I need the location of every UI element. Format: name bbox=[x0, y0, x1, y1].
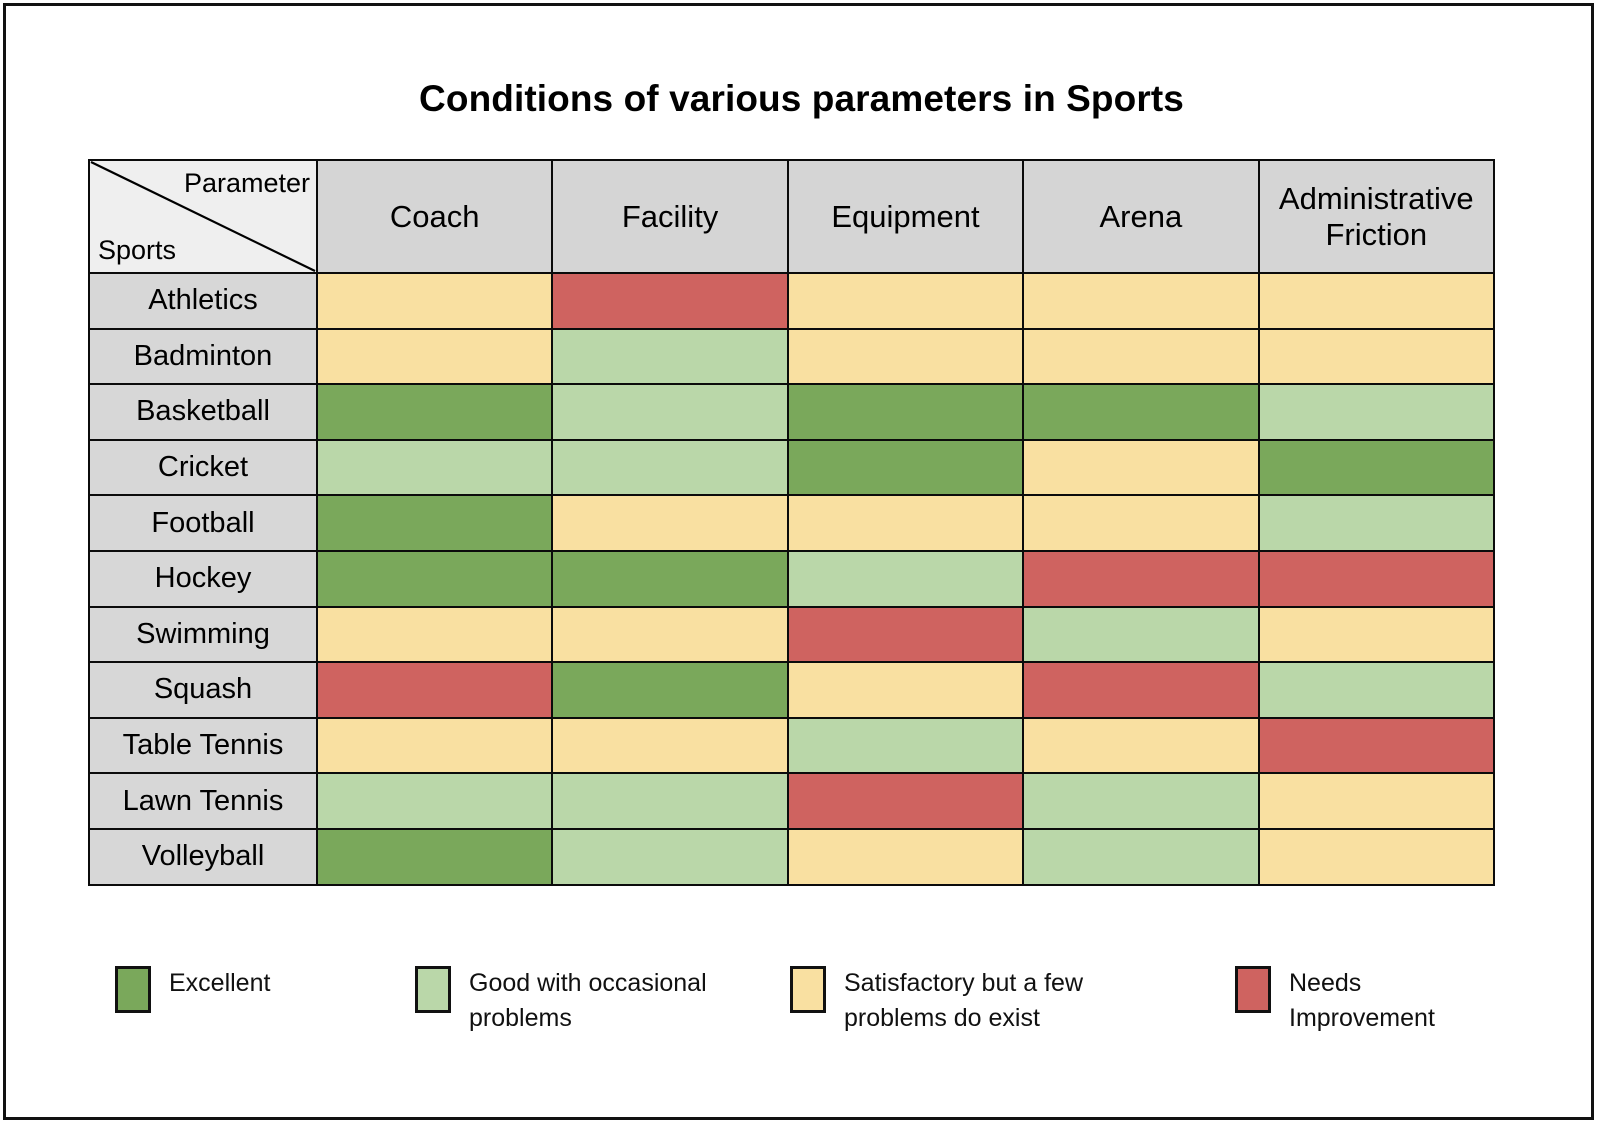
cell-squash-coach bbox=[317, 662, 552, 718]
cell-hockey-arena bbox=[1023, 551, 1258, 607]
cell-basketball-coach bbox=[317, 384, 552, 440]
row-label-hockey: Hockey bbox=[89, 551, 317, 607]
cell-football-equipment bbox=[788, 495, 1023, 551]
matrix-header-row: Parameter Sports Coach Facility Equipmen… bbox=[89, 160, 1494, 273]
legend-label-excellent: Excellent bbox=[169, 944, 270, 1001]
cell-table-tennis-facility bbox=[552, 718, 787, 774]
cell-football-arena bbox=[1023, 495, 1258, 551]
cell-hockey-administrative-friction bbox=[1259, 551, 1494, 607]
cell-cricket-facility bbox=[552, 440, 787, 496]
table-row: Hockey bbox=[89, 551, 1494, 607]
row-label-swimming: Swimming bbox=[89, 607, 317, 663]
cell-table-tennis-arena bbox=[1023, 718, 1258, 774]
row-label-badminton: Badminton bbox=[89, 329, 317, 385]
cell-lawn-tennis-coach bbox=[317, 773, 552, 829]
column-header-equipment: Equipment bbox=[788, 160, 1023, 273]
cell-lawn-tennis-facility bbox=[552, 773, 787, 829]
matrix-head: Parameter Sports Coach Facility Equipmen… bbox=[89, 160, 1494, 273]
legend-item-needs-improvement: Needs Improvement bbox=[1235, 944, 1493, 1035]
row-label-football: Football bbox=[89, 495, 317, 551]
matrix-body: AthleticsBadmintonBasketballCricketFootb… bbox=[89, 273, 1494, 885]
legend-swatch-satisfactory bbox=[790, 966, 826, 1013]
cell-football-administrative-friction bbox=[1259, 495, 1494, 551]
cell-swimming-coach bbox=[317, 607, 552, 663]
cell-volleyball-coach bbox=[317, 829, 552, 885]
legend-item-satisfactory: Satisfactory but a few problems do exist bbox=[790, 944, 1119, 1035]
cell-cricket-coach bbox=[317, 440, 552, 496]
cell-basketball-administrative-friction bbox=[1259, 384, 1494, 440]
cell-athletics-equipment bbox=[788, 273, 1023, 329]
column-header-arena: Arena bbox=[1023, 160, 1258, 273]
cell-squash-facility bbox=[552, 662, 787, 718]
cell-table-tennis-administrative-friction bbox=[1259, 718, 1494, 774]
cell-hockey-facility bbox=[552, 551, 787, 607]
cell-swimming-administrative-friction bbox=[1259, 607, 1494, 663]
cell-cricket-administrative-friction bbox=[1259, 440, 1494, 496]
conditions-matrix-table: Parameter Sports Coach Facility Equipmen… bbox=[88, 159, 1495, 886]
cell-badminton-equipment bbox=[788, 329, 1023, 385]
row-label-volleyball: Volleyball bbox=[89, 829, 317, 885]
page-root: Conditions of various parameters in Spor… bbox=[0, 0, 1600, 1125]
cell-lawn-tennis-administrative-friction bbox=[1259, 773, 1494, 829]
row-label-squash: Squash bbox=[89, 662, 317, 718]
cell-lawn-tennis-arena bbox=[1023, 773, 1258, 829]
cell-athletics-coach bbox=[317, 273, 552, 329]
table-row: Basketball bbox=[89, 384, 1494, 440]
cell-squash-administrative-friction bbox=[1259, 662, 1494, 718]
cell-athletics-facility bbox=[552, 273, 787, 329]
cell-swimming-equipment bbox=[788, 607, 1023, 663]
cell-volleyball-equipment bbox=[788, 829, 1023, 885]
cell-badminton-administrative-friction bbox=[1259, 329, 1494, 385]
page-frame: Conditions of various parameters in Spor… bbox=[3, 3, 1594, 1120]
cell-swimming-facility bbox=[552, 607, 787, 663]
row-label-cricket: Cricket bbox=[89, 440, 317, 496]
legend: Excellent Good with occasional problems … bbox=[88, 944, 1493, 1064]
page-title: Conditions of various parameters in Spor… bbox=[6, 78, 1597, 120]
column-axis-label: Parameter bbox=[184, 169, 310, 197]
cell-badminton-facility bbox=[552, 329, 787, 385]
cell-athletics-administrative-friction bbox=[1259, 273, 1494, 329]
table-row: Volleyball bbox=[89, 829, 1494, 885]
column-header-facility: Facility bbox=[552, 160, 787, 273]
legend-label-satisfactory: Satisfactory but a few problems do exist bbox=[844, 944, 1119, 1035]
cell-hockey-equipment bbox=[788, 551, 1023, 607]
legend-swatch-needs-improvement bbox=[1235, 966, 1271, 1013]
row-label-table-tennis: Table Tennis bbox=[89, 718, 317, 774]
cell-basketball-facility bbox=[552, 384, 787, 440]
corner-axis-cell: Parameter Sports bbox=[89, 160, 317, 273]
cell-volleyball-administrative-friction bbox=[1259, 829, 1494, 885]
row-label-basketball: Basketball bbox=[89, 384, 317, 440]
cell-basketball-equipment bbox=[788, 384, 1023, 440]
cell-basketball-arena bbox=[1023, 384, 1258, 440]
row-axis-label: Sports bbox=[98, 236, 176, 264]
cell-cricket-equipment bbox=[788, 440, 1023, 496]
table-row: Football bbox=[89, 495, 1494, 551]
table-row: Squash bbox=[89, 662, 1494, 718]
column-header-coach: Coach bbox=[317, 160, 552, 273]
legend-swatch-excellent bbox=[115, 966, 151, 1013]
legend-item-excellent: Excellent bbox=[115, 944, 270, 1013]
table-row: Lawn Tennis bbox=[89, 773, 1494, 829]
cell-hockey-coach bbox=[317, 551, 552, 607]
cell-football-facility bbox=[552, 495, 787, 551]
cell-lawn-tennis-equipment bbox=[788, 773, 1023, 829]
legend-label-good: Good with occasional problems bbox=[469, 944, 744, 1035]
cell-cricket-arena bbox=[1023, 440, 1258, 496]
cell-badminton-coach bbox=[317, 329, 552, 385]
cell-badminton-arena bbox=[1023, 329, 1258, 385]
table-row: Table Tennis bbox=[89, 718, 1494, 774]
cell-table-tennis-coach bbox=[317, 718, 552, 774]
table-row: Badminton bbox=[89, 329, 1494, 385]
row-label-athletics: Athletics bbox=[89, 273, 317, 329]
column-header-administrative-friction: Administrative Friction bbox=[1259, 160, 1494, 273]
legend-item-good: Good with occasional problems bbox=[415, 944, 744, 1035]
cell-squash-arena bbox=[1023, 662, 1258, 718]
table-row: Athletics bbox=[89, 273, 1494, 329]
row-label-lawn-tennis: Lawn Tennis bbox=[89, 773, 317, 829]
cell-volleyball-facility bbox=[552, 829, 787, 885]
cell-athletics-arena bbox=[1023, 273, 1258, 329]
cell-table-tennis-equipment bbox=[788, 718, 1023, 774]
legend-label-needs-improvement: Needs Improvement bbox=[1289, 944, 1493, 1035]
cell-swimming-arena bbox=[1023, 607, 1258, 663]
cell-volleyball-arena bbox=[1023, 829, 1258, 885]
cell-squash-equipment bbox=[788, 662, 1023, 718]
legend-swatch-good bbox=[415, 966, 451, 1013]
table-row: Cricket bbox=[89, 440, 1494, 496]
cell-football-coach bbox=[317, 495, 552, 551]
table-row: Swimming bbox=[89, 607, 1494, 663]
